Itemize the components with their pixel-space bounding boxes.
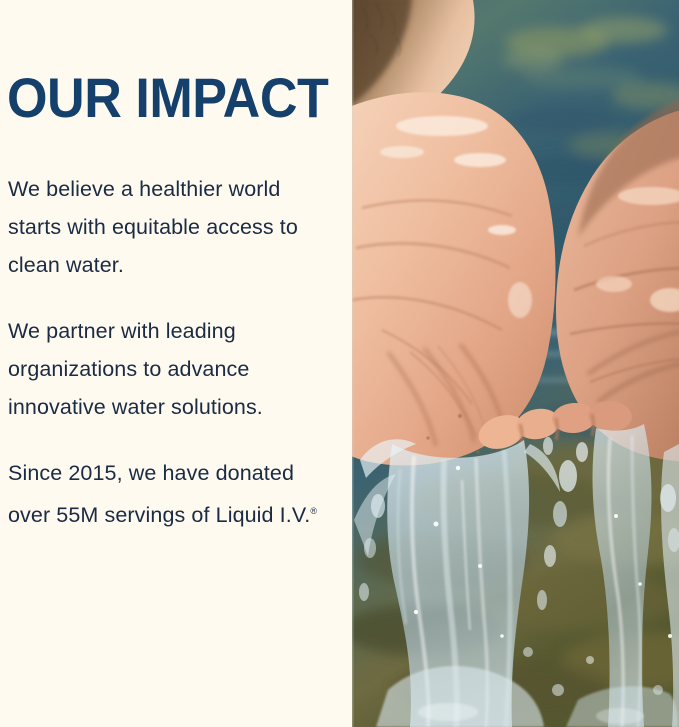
text-panel: OUR IMPACT We believe a healthier world …: [0, 0, 352, 727]
hands-with-water-illustration: [352, 0, 679, 727]
our-impact-panel: OUR IMPACT We believe a healthier world …: [0, 0, 679, 727]
paragraph-partners: We partner with leading organizations to…: [8, 312, 338, 426]
hands-with-water-photo: [352, 0, 679, 727]
paragraph-donations: Since 2015, we have donated over 55M ser…: [8, 454, 338, 534]
paragraph-mission: We believe a healthier world starts with…: [8, 170, 338, 284]
body-copy: We believe a healthier world starts with…: [8, 170, 338, 534]
registered-trademark-icon: ®: [310, 506, 317, 516]
page-title: OUR IMPACT: [7, 70, 328, 126]
paragraph-donations-text: Since 2015, we have donated over 55M ser…: [8, 461, 310, 527]
